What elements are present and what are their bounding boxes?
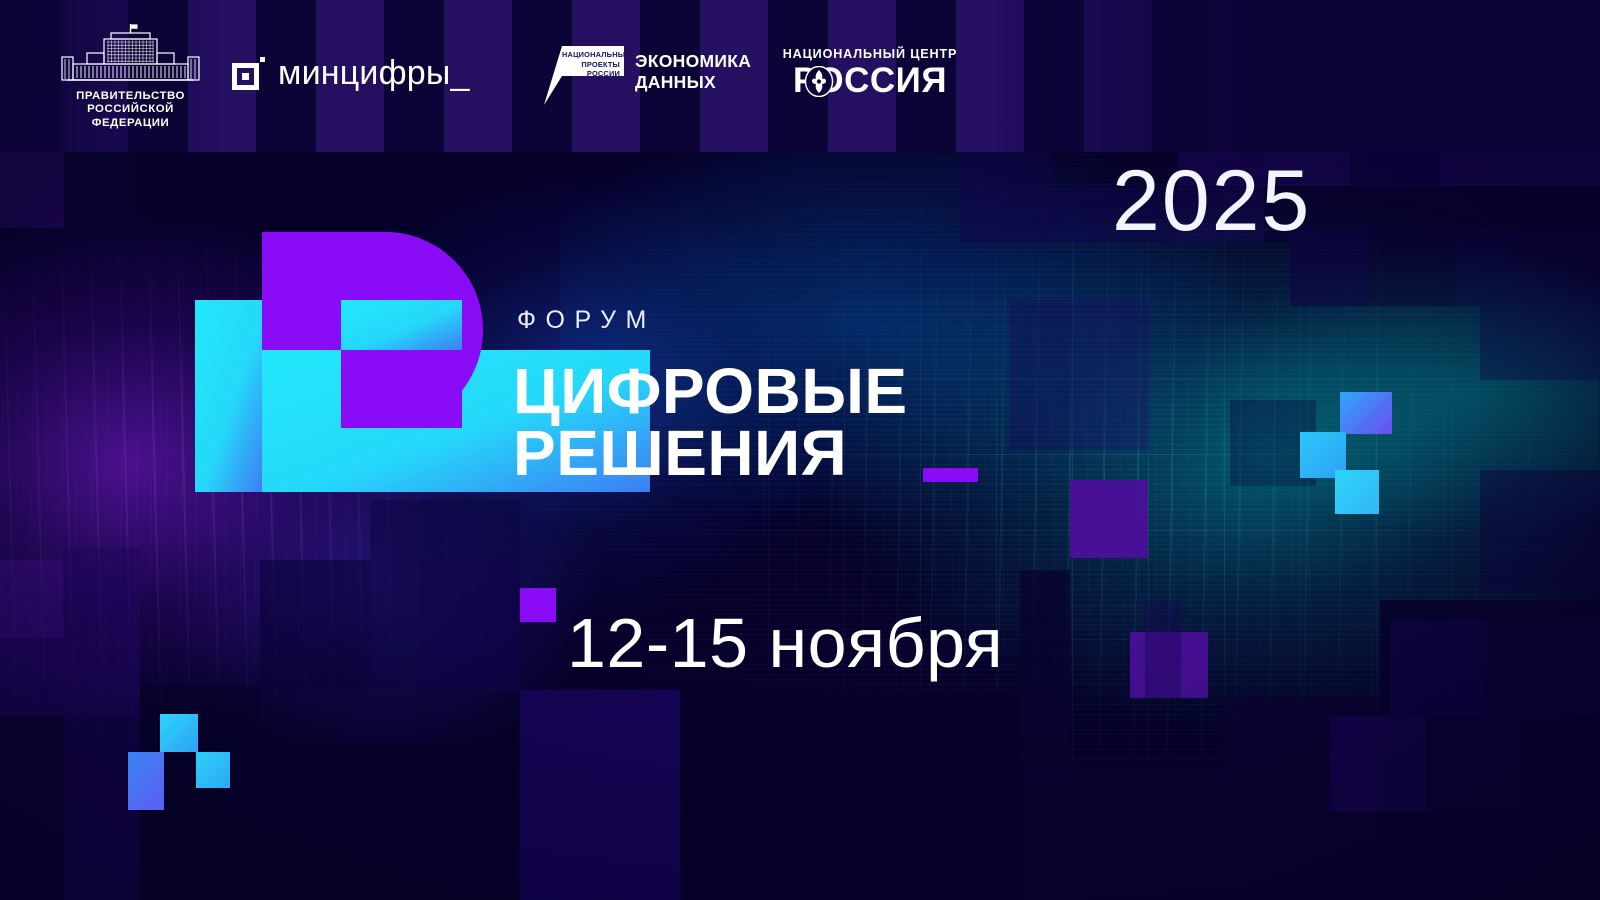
event-date: 12-15 ноября (567, 608, 1003, 678)
forum-kicker: ФОРУМ (517, 308, 656, 333)
np-title-line-2: ДАННЫХ (635, 72, 751, 93)
year-label: 2025 (1112, 158, 1311, 244)
russia-emblem-ornament-icon (804, 66, 834, 97)
gov-line-3: ФЕДЕРАЦИИ (48, 117, 213, 130)
logo-national-center-russia[interactable]: НАЦИОНАЛЬНЫЙ ЦЕНТР РОССИЯ (770, 47, 970, 100)
national-center-title: РОССИЯ (770, 62, 970, 100)
national-projects-flag-icon: НАЦИОНАЛЬНЫЕ ПРОЕКТЫ РОССИИ (538, 44, 624, 107)
np-flag-line-1: НАЦИОНАЛЬНЫЕ (562, 50, 620, 60)
headline-accent-bar (923, 468, 978, 482)
national-center-subtitle: НАЦИОНАЛЬНЫЙ ЦЕНТР (770, 47, 970, 61)
government-building-icon (59, 22, 202, 86)
accent-square (1335, 470, 1379, 514)
accent-square (128, 752, 164, 810)
gov-line-2: РОССИЙСКОЙ (48, 103, 213, 116)
government-logo-text: ПРАВИТЕЛЬСТВО РОССИЙСКОЙ ФЕДЕРАЦИИ (48, 90, 213, 130)
date-accent-square (520, 588, 556, 622)
accent-square (196, 752, 230, 788)
logo-mintsifry[interactable]: минцифры_ (232, 56, 470, 90)
poster-root: ПРАВИТЕЛЬСТВО РОССИЙСКОЙ ФЕДЕРАЦИИ минци… (0, 0, 1600, 900)
accent-square (160, 714, 198, 752)
logo-government-of-russia[interactable]: ПРАВИТЕЛЬСТВО РОССИЙСКОЙ ФЕДЕРАЦИИ (48, 22, 213, 130)
np-title-line-1: ЭКОНОМИКА (635, 51, 751, 72)
national-projects-title: ЭКОНОМИКА ДАННЫХ (635, 44, 751, 92)
gov-line-1: ПРАВИТЕЛЬСТВО (48, 90, 213, 103)
headline-line-2: РЕШЕНИЯ (513, 422, 908, 484)
header-logo-bar: ПРАВИТЕЛЬСТВО РОССИЙСКОЙ ФЕДЕРАЦИИ минци… (0, 0, 1600, 152)
np-flag-line-3: РОССИИ (562, 69, 620, 79)
accent-square (1340, 392, 1392, 434)
page-title: ЦИФРОВЫЕ РЕШЕНИЯ (513, 360, 908, 484)
mintsifry-square-icon (232, 57, 265, 90)
np-flag-line-2: ПРОЕКТЫ (562, 60, 620, 70)
logo-national-projects[interactable]: НАЦИОНАЛЬНЫЕ ПРОЕКТЫ РОССИИ ЭКОНОМИКА ДА… (538, 44, 751, 107)
mintsifry-label: минцифры_ (278, 56, 470, 90)
